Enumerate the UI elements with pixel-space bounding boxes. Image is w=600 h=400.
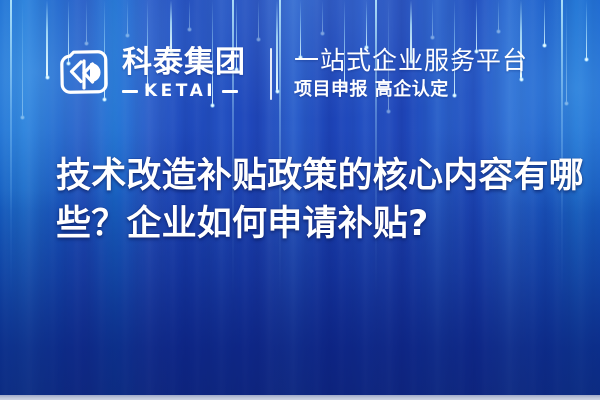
brand-name-en: KETAI [144, 83, 216, 100]
brand-wordmark: 科泰集团 KETAI [122, 48, 246, 100]
promo-banner: 科泰集团 KETAI 一站式企业服务平台 项目申报 高企认定 技术改造补贴政策的… [0, 0, 600, 400]
dash-left-icon [122, 90, 138, 93]
tagline-secondary: 项目申报 高企认定 [294, 80, 528, 100]
tagline-block: 一站式企业服务平台 项目申报 高企认定 [294, 47, 528, 100]
brand-name-en-row: KETAI [122, 83, 246, 100]
banner-header: 科泰集团 KETAI 一站式企业服务平台 项目申报 高企认定 [0, 36, 600, 112]
headline-line-1: 技术改造补贴政策的核心内容有哪 [56, 152, 566, 200]
brand-logo[interactable]: 科泰集团 KETAI [58, 48, 246, 100]
header-divider [270, 48, 272, 100]
tagline-primary: 一站式企业服务平台 [294, 47, 528, 75]
ketai-kp-monogram-icon [58, 48, 110, 100]
dash-right-icon [222, 90, 238, 93]
headline-line-2: 些？企业如何申请补贴? [56, 200, 566, 248]
bottom-edge-strip [0, 395, 600, 400]
headline-block: 技术改造补贴政策的核心内容有哪 些？企业如何申请补贴? [56, 152, 566, 248]
brand-name-cn: 科泰集团 [122, 48, 246, 78]
